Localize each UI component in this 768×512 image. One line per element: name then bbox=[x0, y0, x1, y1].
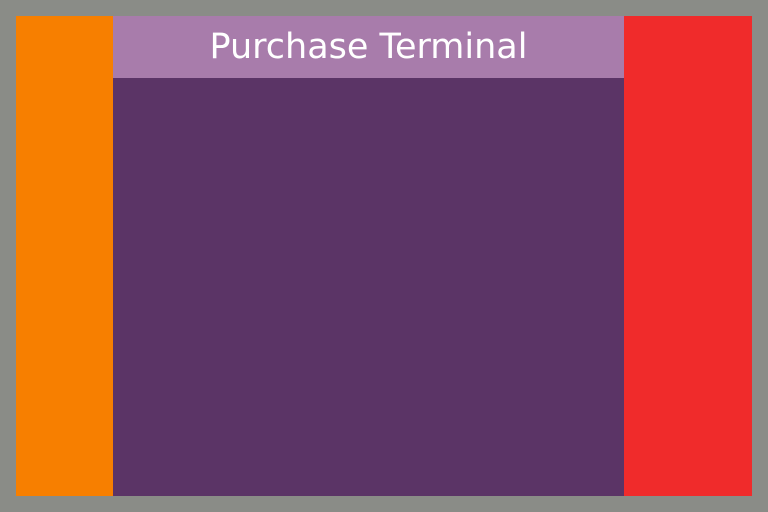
window-title-bar: Purchase Terminal bbox=[113, 16, 624, 78]
terminal-content-area[interactable] bbox=[113, 78, 624, 496]
right-red-rail[interactable] bbox=[624, 16, 752, 496]
window-title: Purchase Terminal bbox=[210, 30, 528, 65]
purchase-terminal-window: Purchase Terminal bbox=[113, 16, 624, 496]
left-orange-rail[interactable] bbox=[16, 16, 113, 496]
screen-root: Purchase Terminal bbox=[0, 0, 768, 512]
